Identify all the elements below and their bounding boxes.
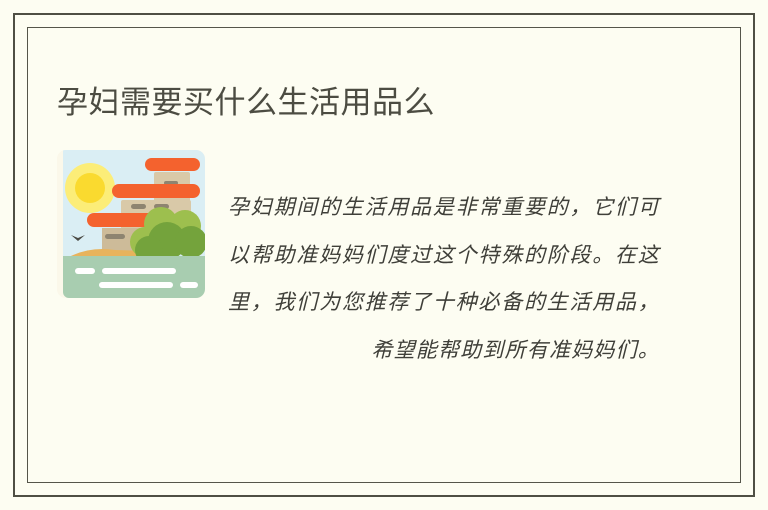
- building-middle-roof: [112, 184, 200, 198]
- water-body: [63, 256, 205, 298]
- article-content: 孕妇需要买什么生活用品么: [0, 0, 768, 510]
- wave-dash-2: [102, 268, 176, 274]
- sun-icon: [75, 173, 105, 203]
- wave-dash-1: [75, 268, 95, 274]
- building-back-roof: [145, 158, 200, 171]
- building-middle-window-left: [131, 204, 146, 209]
- wave-dash-4: [180, 282, 198, 288]
- building-front-window: [105, 234, 125, 239]
- article-card-page: 孕妇需要买什么生活用品么: [0, 0, 768, 510]
- page-title: 孕妇需要买什么生活用品么: [57, 83, 435, 123]
- seaside-village-illustration: [57, 150, 205, 298]
- wave-dash-3: [99, 282, 173, 288]
- article-body-text: 孕妇期间的生活用品是非常重要的，它们可以帮助准妈妈们度过这个特殊的阶段。在这里，…: [228, 184, 660, 374]
- illustration-svg: [57, 150, 205, 298]
